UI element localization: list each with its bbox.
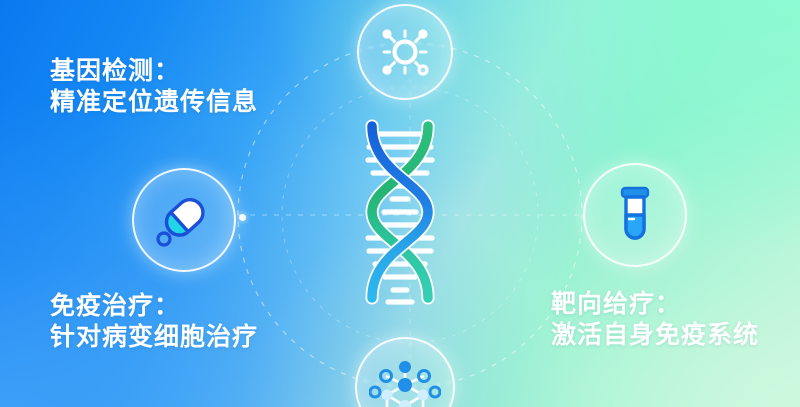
label-targeted-therapy-title: 靶向给疗： bbox=[551, 289, 759, 320]
badge-capsule[interactable] bbox=[132, 168, 236, 272]
badge-molecule[interactable] bbox=[355, 337, 455, 407]
label-immunotherapy-title: 免疫治疗： bbox=[50, 291, 258, 322]
label-gene-testing: 基因检测： 精准定位遗传信息 bbox=[50, 56, 258, 118]
virus-cell-icon bbox=[376, 23, 434, 81]
label-targeted-therapy: 靶向给疗： 激活自身免疫系统 bbox=[551, 289, 759, 351]
test-tube-icon bbox=[605, 183, 665, 247]
dna-double-helix bbox=[344, 114, 456, 310]
infographic-canvas: 基因检测： 精准定位遗传信息 免疫治疗： 针对病变细胞治疗 靶向给疗： 激活自身… bbox=[0, 0, 800, 407]
molecule-structure-icon bbox=[369, 354, 441, 407]
pill-capsule-icon bbox=[151, 187, 217, 253]
label-gene-testing-subtitle: 精准定位遗传信息 bbox=[50, 87, 258, 118]
label-immunotherapy-subtitle: 针对病变细胞治疗 bbox=[50, 322, 258, 353]
badge-virus[interactable] bbox=[357, 4, 453, 100]
connector-dot-left bbox=[239, 214, 246, 221]
label-targeted-therapy-subtitle: 激活自身免疫系统 bbox=[551, 320, 759, 351]
label-gene-testing-title: 基因检测： bbox=[50, 56, 258, 87]
label-immunotherapy: 免疫治疗： 针对病变细胞治疗 bbox=[50, 291, 258, 353]
badge-test-tube[interactable] bbox=[583, 163, 687, 267]
dna-svg bbox=[344, 114, 456, 310]
